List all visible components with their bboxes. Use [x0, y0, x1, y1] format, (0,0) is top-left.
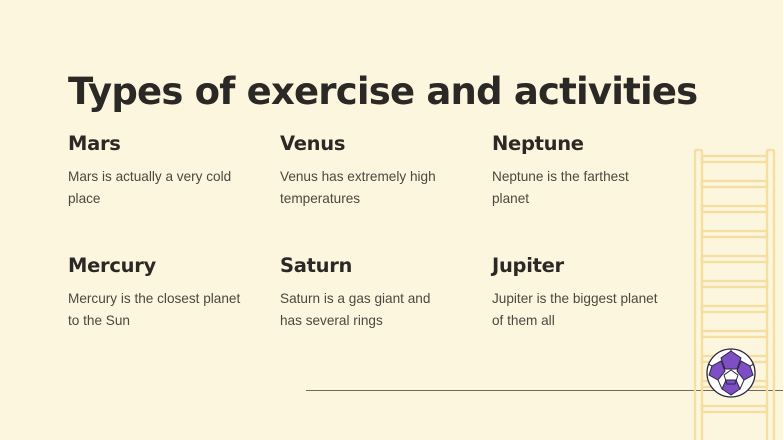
items-grid: Mars Mars is actually a very cold place …	[68, 132, 688, 332]
item-body: Mars is actually a very cold place	[68, 166, 243, 210]
items-row-top: Mars Mars is actually a very cold place …	[68, 132, 688, 210]
item-heading: Saturn	[280, 254, 492, 278]
item-body: Neptune is the farthest planet	[492, 166, 667, 210]
item-body: Venus has extremely high temperatures	[280, 166, 455, 210]
page-title: Types of exercise and activities	[68, 69, 708, 115]
item-heading: Neptune	[492, 132, 704, 156]
item-heading: Jupiter	[492, 254, 704, 278]
item-body: Saturn is a gas giant and has several ri…	[280, 288, 455, 332]
item-neptune: Neptune Neptune is the farthest planet	[492, 132, 704, 210]
item-saturn: Saturn Saturn is a gas giant and has sev…	[280, 254, 492, 332]
items-row-bottom: Mercury Mercury is the closest planet to…	[68, 254, 688, 332]
item-venus: Venus Venus has extremely high temperatu…	[280, 132, 492, 210]
item-mars: Mars Mars is actually a very cold place	[68, 132, 280, 210]
item-heading: Venus	[280, 132, 492, 156]
item-mercury: Mercury Mercury is the closest planet to…	[68, 254, 280, 332]
item-jupiter: Jupiter Jupiter is the biggest planet of…	[492, 254, 704, 332]
item-heading: Mercury	[68, 254, 280, 278]
item-body: Mercury is the closest planet to the Sun	[68, 288, 243, 332]
item-heading: Mars	[68, 132, 280, 156]
slide-canvas: Types of exercise and activities Mars Ma…	[0, 0, 783, 440]
item-body: Jupiter is the biggest planet of them al…	[492, 288, 667, 332]
soccer-ball-icon	[704, 348, 758, 398]
